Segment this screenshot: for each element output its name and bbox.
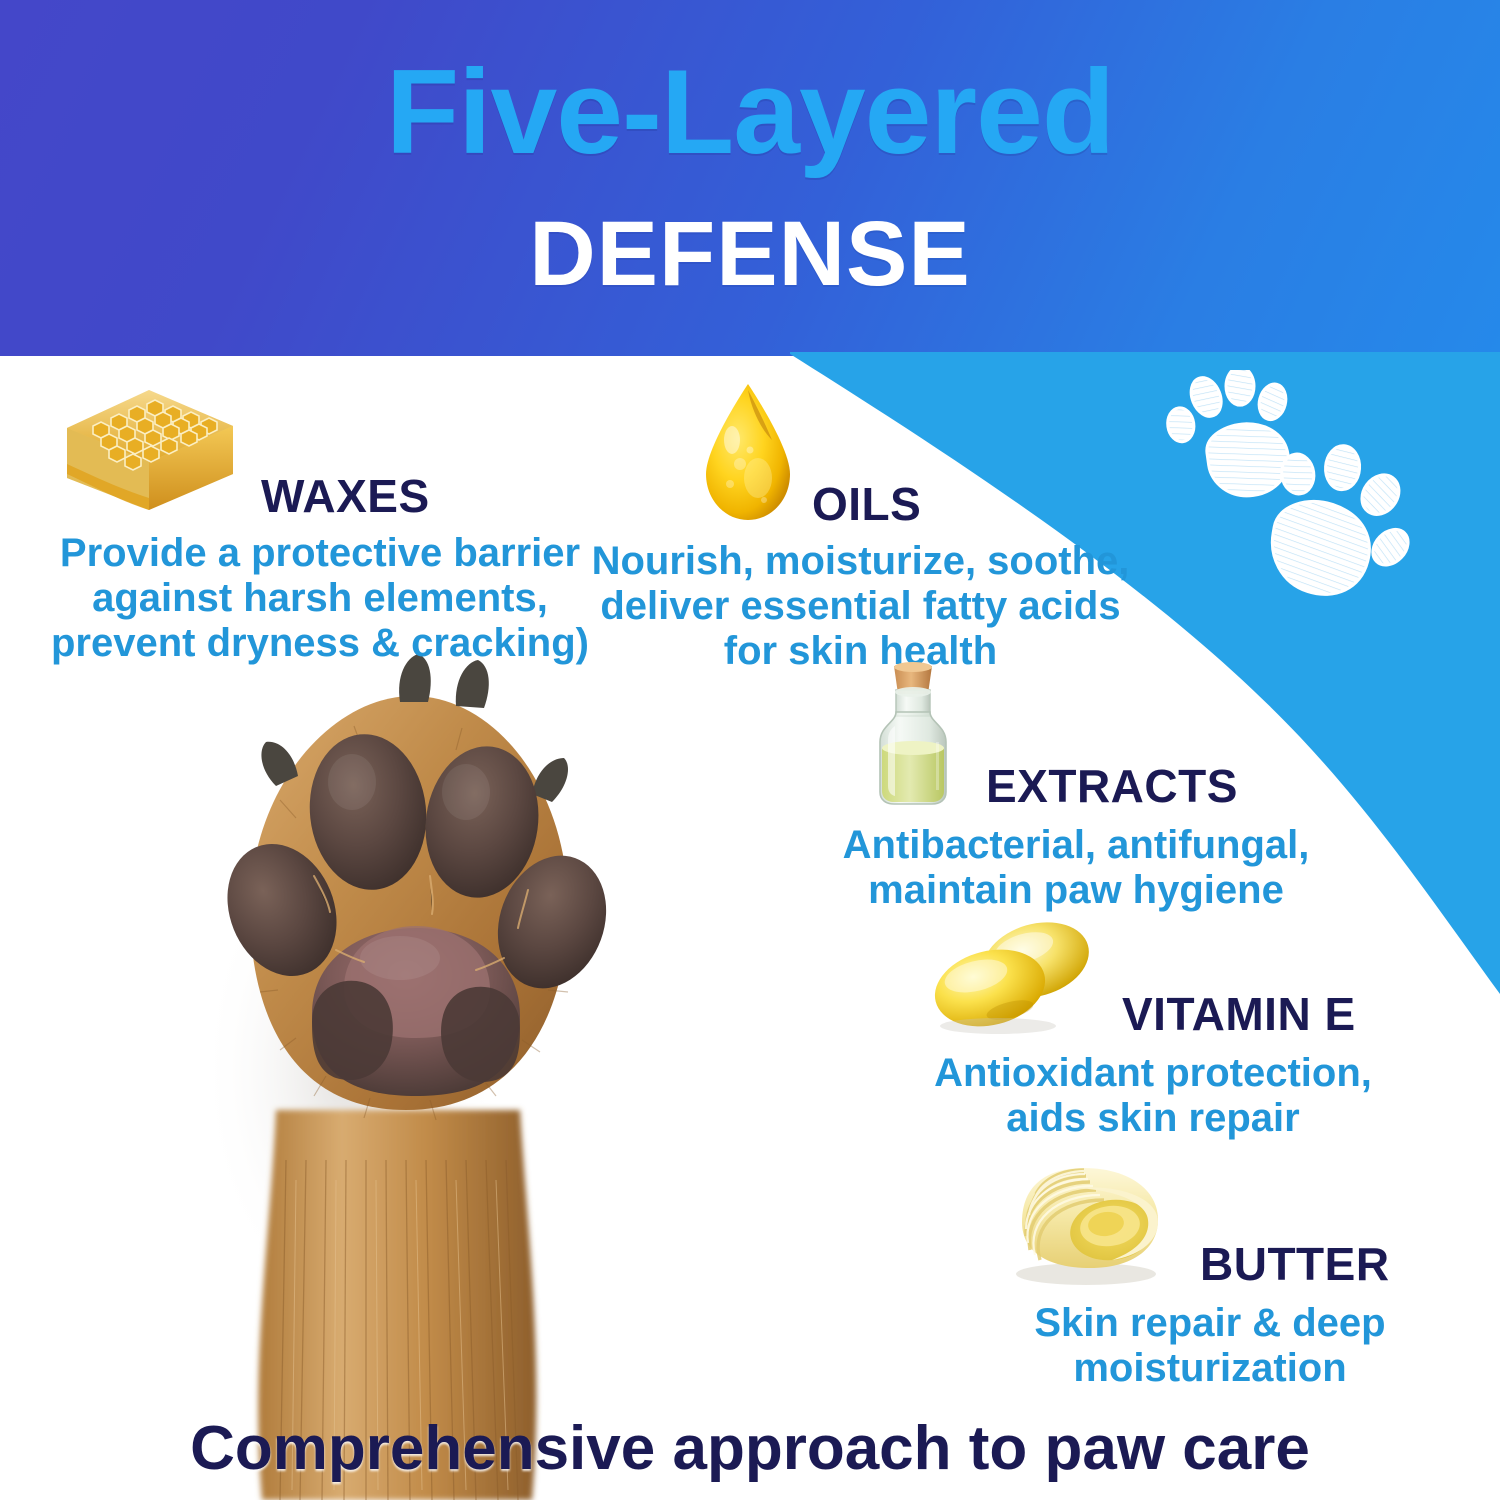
vitamin-head: VITAMIN E xyxy=(928,918,1388,1043)
infographic-root: Five-Layered DEFENSE xyxy=(0,0,1500,1500)
extracts-head: EXTRACTS xyxy=(858,660,1326,815)
ingredient-term: WAXES xyxy=(261,473,430,519)
ingredient-term: EXTRACTS xyxy=(986,763,1238,809)
butter-curl-icon xyxy=(1000,1158,1180,1293)
ingredient-term: VITAMIN E xyxy=(1122,991,1356,1037)
butter-head: BUTTER xyxy=(1000,1158,1420,1293)
page-subtitle: DEFENSE xyxy=(0,208,1500,300)
ingredient-block-vitamin-e: VITAMIN E Antioxidant protection, aids s… xyxy=(918,918,1388,1141)
ingredient-block-oils: OILS Nourish, moisturize, soothe, delive… xyxy=(588,378,1133,673)
ingredient-block-butter: BUTTER Skin repair & deep moisturization xyxy=(1000,1158,1420,1391)
ingredient-description: Skin repair & deep moisturization xyxy=(1000,1301,1420,1391)
tagline: Comprehensive approach to paw care xyxy=(0,1413,1500,1484)
waxes-head: WAXES xyxy=(53,378,605,523)
ingredient-block-waxes: WAXES Provide a protective barrier again… xyxy=(35,378,605,665)
honeycomb-icon xyxy=(53,378,243,523)
paw-print-decoration xyxy=(1160,370,1460,610)
header-banner: Five-Layered DEFENSE xyxy=(0,0,1500,356)
ingredient-description: Nourish, moisturize, soothe, deliver ess… xyxy=(588,539,1133,673)
ingredient-term: OILS xyxy=(812,481,921,527)
dog-paw-photo xyxy=(100,640,720,1500)
ingredient-term: BUTTER xyxy=(1200,1241,1390,1287)
page-title: Five-Layered xyxy=(0,52,1500,172)
ingredient-description: Antibacterial, antifungal, maintain paw … xyxy=(826,823,1326,913)
ingredient-description: Antioxidant protection, aids skin repair xyxy=(918,1051,1388,1141)
vitamin-capsule-icon xyxy=(928,918,1108,1043)
ingredient-description: Provide a protective barrier against har… xyxy=(35,531,605,665)
oils-head: OILS xyxy=(688,378,1133,533)
oil-drop-icon xyxy=(688,378,808,533)
extract-bottle-icon xyxy=(858,660,968,815)
ingredient-block-extracts: EXTRACTS Antibacterial, antifungal, main… xyxy=(826,660,1326,913)
